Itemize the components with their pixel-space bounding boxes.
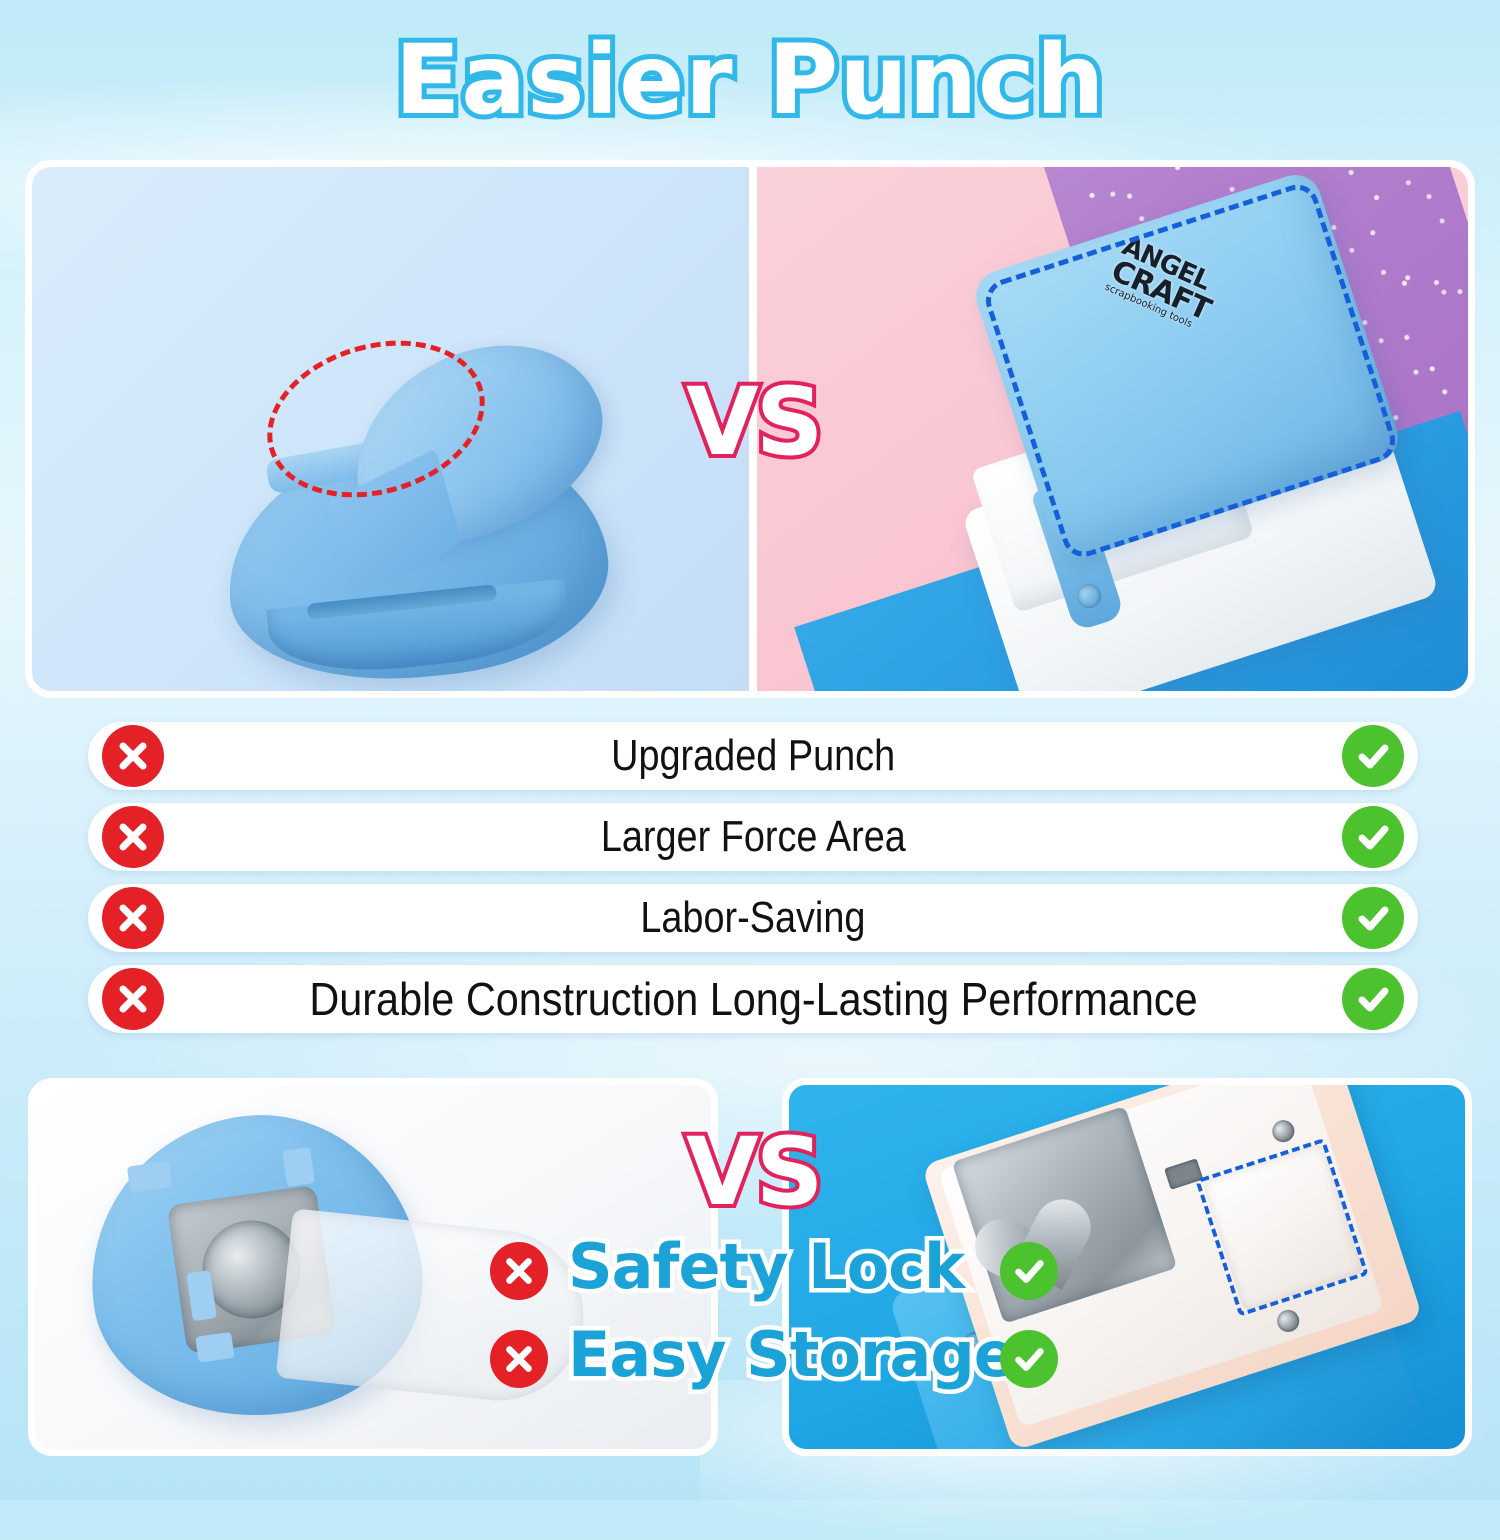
cross-icon (490, 1330, 548, 1388)
feature-label: Larger Force Area (601, 812, 906, 862)
check-icon (1000, 1242, 1058, 1300)
vs-badge-top: VS (686, 368, 820, 477)
bottom-feature-list: Safety Lock Easy Storage (490, 1228, 1070, 1404)
feature-label: Labor-Saving (640, 893, 865, 943)
check-icon (1000, 1330, 1058, 1388)
table-row: Durable Construction Long-Lasting Perfor… (88, 965, 1418, 1033)
vs-badge-bottom: VS (686, 1118, 820, 1227)
old-punch-underside-illustration (71, 1085, 512, 1456)
old-punch-illustration (207, 342, 637, 672)
page-title: Easier Punch (395, 24, 1106, 136)
cross-icon (102, 887, 164, 949)
cross-icon (490, 1242, 548, 1300)
check-icon (1342, 725, 1404, 787)
table-row: Labor-Saving (88, 884, 1418, 952)
list-item: Safety Lock (490, 1228, 1070, 1316)
new-punch-photo: ANGEL CRAFT scrapbooking tools (757, 167, 1468, 691)
feature-label: Upgraded Punch (611, 731, 895, 781)
cross-icon (102, 968, 164, 1030)
table-row: Larger Force Area (88, 803, 1418, 871)
page-title-wrap: Easier Punch (0, 24, 1500, 136)
cross-icon (102, 806, 164, 868)
bottom-feature-label: Easy Storage (568, 1318, 1015, 1391)
feature-list: Upgraded Punch Larger Force Area Labor-S… (88, 722, 1418, 1046)
old-punch-rib (282, 1147, 315, 1187)
check-icon (1342, 968, 1404, 1030)
old-punch-photo (32, 167, 749, 691)
old-punch-rib (195, 1332, 234, 1363)
list-item: Easy Storage (490, 1316, 1070, 1404)
check-icon (1342, 806, 1404, 868)
bottom-feature-label: Safety Lock (568, 1230, 964, 1303)
table-row: Upgraded Punch (88, 722, 1418, 790)
cross-icon (102, 725, 164, 787)
feature-label: Durable Construction Long-Lasting Perfor… (309, 972, 1197, 1026)
check-icon (1342, 887, 1404, 949)
